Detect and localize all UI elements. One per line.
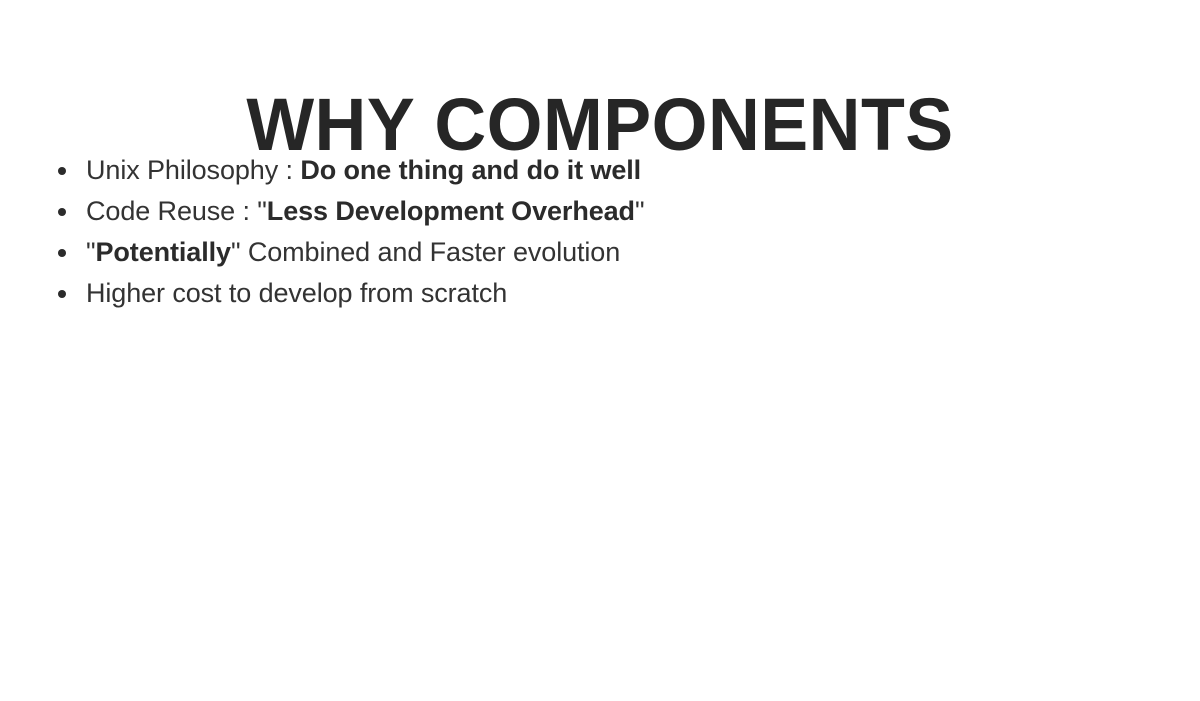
list-item-text-bold: Less Development Overhead	[267, 196, 635, 226]
list-item: Unix Philosophy : Do one thing and do it…	[46, 150, 1146, 191]
list-item-text-bold: Do one thing and do it well	[300, 155, 641, 185]
list-item-text-regular: "	[635, 196, 645, 226]
list-item: "Potentially" Combined and Faster evolut…	[46, 232, 1146, 273]
bullet-point-icon	[58, 290, 66, 298]
list-item: Higher cost to develop from scratch	[46, 273, 1146, 314]
bullet-point-icon	[58, 249, 66, 257]
bullet-point-icon	[58, 167, 66, 175]
list-item-text-regular: Unix Philosophy :	[86, 155, 300, 185]
list-item-text-regular: Code Reuse : "	[86, 196, 267, 226]
list-item-text-regular: " Combined and Faster evolution	[231, 237, 620, 267]
list-item: Code Reuse : "Less Development Overhead"	[46, 191, 1146, 232]
bullet-point-icon	[58, 208, 66, 216]
list-item-text-bold: Potentially	[96, 237, 231, 267]
list-item-text-regular: "	[86, 237, 96, 267]
slide-canvas: WHY COMPONENTS Unix Philosophy : Do one …	[0, 0, 1200, 701]
bullet-list: Unix Philosophy : Do one thing and do it…	[46, 150, 1146, 314]
list-item-text-regular: Higher cost to develop from scratch	[86, 278, 507, 308]
